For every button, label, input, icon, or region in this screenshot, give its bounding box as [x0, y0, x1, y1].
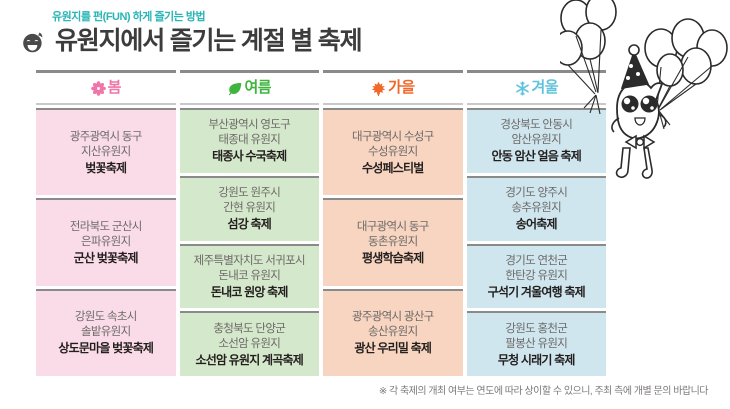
- cells-spring: 광주광역시 동구 지산유원지 벚꽃축제 전라북도 군산시 은파유원지 군산 벚꽃…: [36, 105, 176, 376]
- region: 광주광역시 동구: [70, 130, 142, 145]
- festival-name: 안동 암산 얼음 축제: [491, 148, 581, 164]
- festival-cell: 강원도 속초시 솔밭유원지 상도문마을 벚꽃축제: [36, 289, 176, 376]
- maple-leaf-icon: [371, 81, 386, 96]
- column-autumn: 가을 대구광역시 수성구 수성유원지 수성페스티벌 대구광역시 동구 동촌유원지…: [323, 70, 463, 376]
- place: 태종대 유원지: [218, 133, 280, 148]
- region: 대구광역시 수성구: [352, 130, 434, 145]
- festival-name: 소선암 유원지 계곡축제: [196, 352, 303, 368]
- festival-cell: 경기도 연천군 한탄강 유원지 구석기 겨울여행 축제: [467, 244, 607, 309]
- festival-cell: 전라북도 군산시 은파유원지 군산 벚꽃축제: [36, 198, 176, 285]
- cells-summer: 부산광역시 영도구 태종대 유원지 태종사 수국축제 강원도 원주시 간현 유원…: [180, 105, 320, 376]
- subtitle: 유원지를 펀(FUN) 하게 즐기는 방법: [52, 10, 582, 24]
- region: 제주특별자치도 서귀포시: [194, 254, 305, 269]
- place: 송산유원지: [368, 325, 417, 340]
- column-header-spring: 봄: [36, 70, 176, 105]
- festival-cell: 제주특별자치도 서귀포시 돈내코 유원지 돈내코 원앙 축제: [180, 244, 320, 309]
- place: 한탄강 유원지: [505, 269, 567, 284]
- place: 간현 유원지: [223, 201, 275, 216]
- festival-name: 태종사 수국축제: [212, 148, 286, 164]
- festival-name: 수성페스티벌: [362, 160, 423, 176]
- cherry-blossom-icon: [91, 81, 106, 96]
- festival-cell: 충청북도 단양군 소선암 유원지 소선암 유원지 계곡축제: [180, 311, 320, 376]
- seasonal-festival-table: 봄 광주광역시 동구 지산유원지 벚꽃축제 전라북도 군산시 은파유원지 군산 …: [36, 70, 606, 376]
- column-header-winter: 겨울: [467, 70, 607, 105]
- snowflake-icon: [515, 81, 530, 96]
- festival-name: 군산 벚꽃축제: [74, 250, 138, 266]
- festival-name: 섬강 축제: [228, 216, 272, 232]
- festival-name: 벚꽃축제: [85, 160, 126, 176]
- place: 은파유원지: [81, 235, 130, 250]
- place: 솔밭유원지: [81, 325, 130, 340]
- region: 경기도 양주시: [505, 186, 567, 201]
- place: 돈내코 유원지: [218, 269, 280, 284]
- region: 강원도 홍천군: [505, 322, 567, 337]
- festival-name: 무청 시래기 축제: [498, 352, 575, 368]
- column-summer: 여름 부산광역시 영도구 태종대 유원지 태종사 수국축제 강원도 원주시 간현…: [180, 70, 320, 376]
- festival-cell: 광주광역시 광산구 송산유원지 광산 우리밀 축제: [323, 289, 463, 376]
- column-header-summer: 여름: [180, 70, 320, 105]
- region: 경기도 연천군: [505, 254, 567, 269]
- region: 부산광역시 영도구: [208, 118, 290, 133]
- festival-cell: 경상북도 안동시 암산유원지 안동 암산 얼음 축제: [467, 108, 607, 173]
- festival-cell: 강원도 원주시 간현 유원지 섬강 축제: [180, 176, 320, 241]
- festival-cell: 광주광역시 동구 지산유원지 벚꽃축제: [36, 108, 176, 195]
- page-title: 유원지에서 즐기는 계절 별 축제: [55, 26, 361, 56]
- region: 강원도 속초시: [75, 310, 137, 325]
- region: 충청북도 단양군: [213, 322, 285, 337]
- region: 강원도 원주시: [218, 186, 280, 201]
- place: 소선암 유원지: [218, 337, 280, 352]
- festival-name: 구석기 겨울여행 축제: [488, 284, 585, 300]
- place: 팔봉산 유원지: [505, 337, 567, 352]
- cells-autumn: 대구광역시 수성구 수성유원지 수성페스티벌 대구광역시 동구 동촌유원지 평생…: [323, 105, 463, 376]
- festival-name: 돈내코 원앙 축제: [211, 284, 288, 300]
- leaf-icon: [228, 81, 243, 96]
- smiley-face-icon: [22, 31, 48, 53]
- region: 대구광역시 동구: [357, 220, 429, 235]
- header: 유원지를 펀(FUN) 하게 즐기는 방법 유원지에서 즐기는 계절 별 축제: [22, 10, 582, 56]
- festival-cell: 강원도 홍천군 팔봉산 유원지 무청 시래기 축제: [467, 311, 607, 376]
- title-row: 유원지에서 즐기는 계절 별 축제: [22, 26, 582, 56]
- festival-name: 송어축제: [516, 216, 557, 232]
- season-label-winter: 겨울: [532, 80, 558, 96]
- season-label-summer: 여름: [245, 80, 271, 96]
- festival-cell: 부산광역시 영도구 태종대 유원지 태종사 수국축제: [180, 108, 320, 173]
- place: 지산유원지: [81, 145, 130, 160]
- column-winter: 겨울 경상북도 안동시 암산유원지 안동 암산 얼음 축제 경기도 양주시 송추…: [467, 70, 607, 376]
- cells-winter: 경상북도 안동시 암산유원지 안동 암산 얼음 축제 경기도 양주시 송추유원지…: [467, 105, 607, 376]
- festival-cell: 대구광역시 수성구 수성유원지 수성페스티벌: [323, 108, 463, 195]
- footnote: ※ 각 축제의 개최 여부는 연도에 따라 상이할 수 있으니, 주최 측에 개…: [379, 385, 708, 398]
- season-label-spring: 봄: [108, 80, 121, 96]
- place: 암산유원지: [512, 133, 561, 148]
- season-label-autumn: 가을: [388, 80, 414, 96]
- place: 송추유원지: [512, 201, 561, 216]
- festival-cell: 대구광역시 동구 동촌유원지 평생학습축제: [323, 198, 463, 285]
- region: 광주광역시 광산구: [352, 310, 434, 325]
- place: 수성유원지: [368, 145, 417, 160]
- column-header-autumn: 가을: [323, 70, 463, 105]
- region: 전라북도 군산시: [70, 220, 142, 235]
- infographic-page: 유원지를 펀(FUN) 하게 즐기는 방법 유원지에서 즐기는 계절 별 축제: [0, 0, 730, 409]
- festival-name: 평생학습축제: [362, 250, 423, 266]
- festival-name: 상도문마을 벚꽃축제: [58, 340, 153, 356]
- region: 경상북도 안동시: [500, 118, 572, 133]
- festival-cell: 경기도 양주시 송추유원지 송어축제: [467, 176, 607, 241]
- festival-name: 광산 우리밀 축제: [354, 340, 431, 356]
- place: 동촌유원지: [368, 235, 417, 250]
- column-spring: 봄 광주광역시 동구 지산유원지 벚꽃축제 전라북도 군산시 은파유원지 군산 …: [36, 70, 176, 376]
